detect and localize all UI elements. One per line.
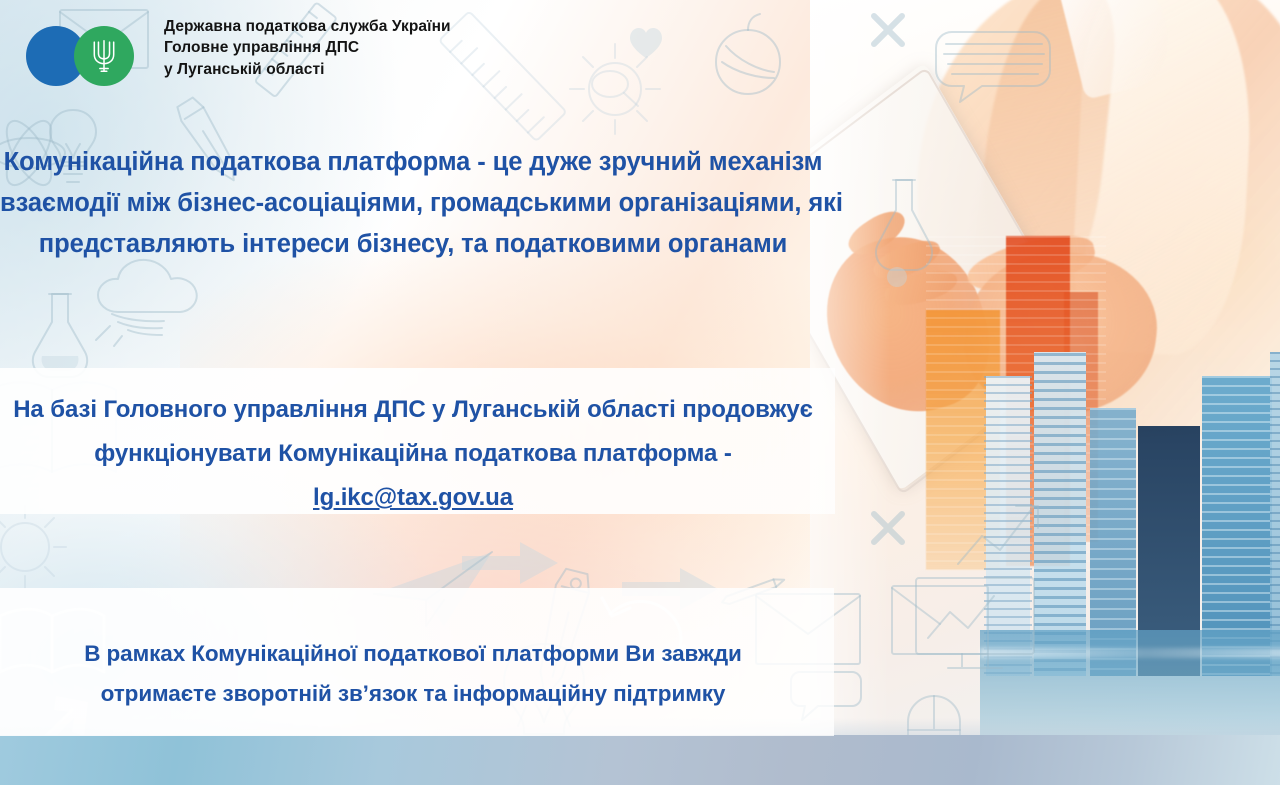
org-line-3: у Луганській області bbox=[164, 59, 451, 80]
message-block-3: В рамках Комунікаційної податкової платф… bbox=[0, 634, 826, 714]
waterline-highlight bbox=[980, 648, 1280, 658]
org-header: Державна податкова служба України Головн… bbox=[16, 12, 451, 88]
businessman-photo bbox=[810, 0, 1280, 785]
message-block-2: На базі Головного управління ДПС у Луган… bbox=[0, 388, 826, 520]
block2-line-2: функціонувати Комунікаційна податкова пл… bbox=[0, 432, 826, 476]
contact-email-link[interactable]: lg.ikc@tax.gov.ua bbox=[0, 476, 826, 520]
org-line-1: Державна податкова служба України bbox=[164, 16, 451, 37]
block3-line-1: В рамках Комунікаційної податкової платф… bbox=[0, 634, 826, 674]
tryzub-icon bbox=[90, 38, 118, 74]
org-line-2: Головне управління ДПС bbox=[164, 37, 451, 58]
block1-line-3: представляють інтереси бізнесу, та подат… bbox=[0, 224, 826, 265]
poster-canvas: Державна податкова служба України Головн… bbox=[0, 0, 1280, 785]
block3-line-2: отримаєте зворотній зв’язок та інформаці… bbox=[0, 674, 826, 714]
block2-line-1: На базі Головного управління ДПС у Луган… bbox=[0, 388, 826, 432]
bottom-color-band bbox=[0, 735, 1280, 785]
block1-line-1: Комунікаційна податкова платформа - це д… bbox=[0, 142, 826, 183]
org-name: Державна податкова служба України Головн… bbox=[164, 12, 451, 80]
message-block-1: Комунікаційна податкова платформа - це д… bbox=[0, 142, 826, 265]
dps-logo bbox=[16, 12, 154, 88]
block1-line-2: взаємодії між бізнес-асоціаціями, громад… bbox=[0, 183, 826, 224]
